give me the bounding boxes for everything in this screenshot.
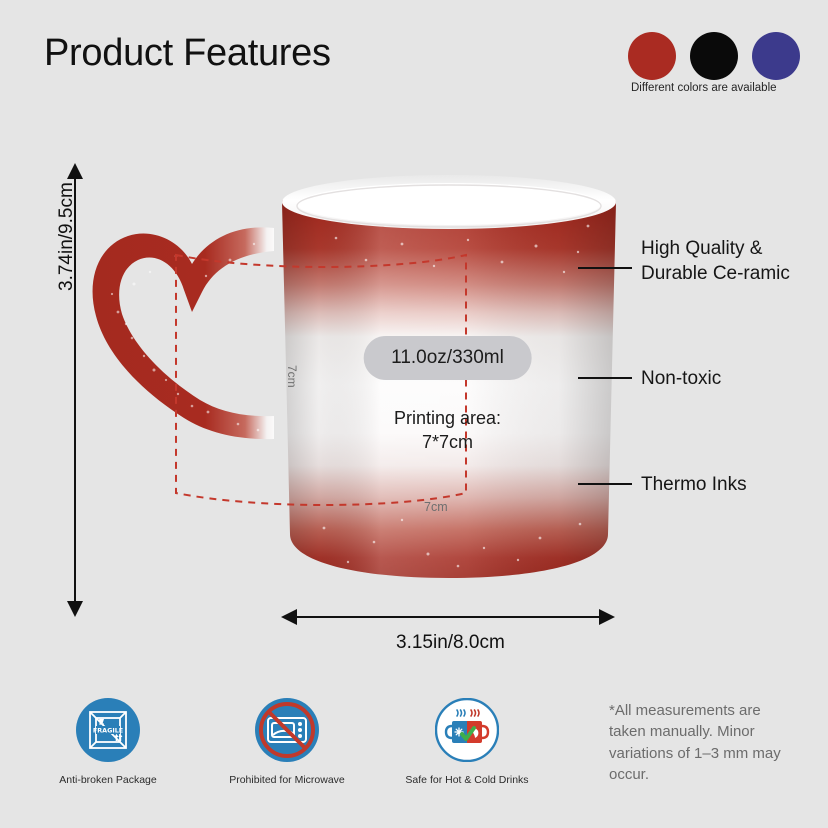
badge-label-hot-cold: Safe for Hot & Cold Drinks: [377, 774, 557, 786]
color-swatch-red[interactable]: [628, 32, 676, 80]
print-area-height-label: 7cm: [285, 365, 299, 388]
hot-cold-mug-icon: [435, 698, 499, 762]
printing-area-heading: Printing area:: [394, 406, 501, 430]
badge-row: FRAGILE Anti-broken Package: [0, 698, 560, 798]
printing-area-text: Printing area: 7*7cm: [394, 406, 501, 455]
svg-text:FRAGILE: FRAGILE: [93, 726, 123, 734]
fragile-crate-icon: FRAGILE: [76, 698, 140, 762]
swatch-caption: Different colors are available: [631, 82, 777, 94]
measurement-disclaimer: *All measurements are taken manually. Mi…: [609, 700, 794, 785]
badge-hot-cold: Safe for Hot & Cold Drinks: [377, 698, 557, 786]
printing-area-size: 7*7cm: [394, 430, 501, 454]
badge-label-no-microwave: Prohibited for Microwave: [197, 774, 377, 786]
width-arrow-left-icon: [281, 609, 297, 625]
height-arrow-up-icon: [67, 163, 83, 179]
callout-label-quality: High Quality & Durable Ce-ramic: [641, 236, 801, 287]
capacity-badge: 11.0oz/330ml: [363, 336, 532, 380]
callout-leader-line-quality: [578, 267, 632, 269]
width-dimension-label: 3.15in/8.0cm: [396, 632, 505, 654]
print-area-width-label: 7cm: [424, 500, 448, 514]
height-dimension-label: 3.74in/9.5cm: [56, 182, 78, 291]
print-area-content: 11.0oz/330ml Printing area: 7*7cm: [300, 258, 595, 518]
callout-leader-line-non-toxic: [578, 377, 632, 379]
color-swatch-black[interactable]: [690, 32, 738, 80]
badge-no-microwave: Prohibited for Microwave: [197, 698, 377, 786]
callout-label-non-toxic: Non-toxic: [641, 366, 721, 391]
infographic-canvas: Product Features Different colors are av…: [0, 0, 828, 828]
callout-label-thermo-ink: Thermo Inks: [641, 472, 747, 497]
microwave-banned-icon: [255, 698, 319, 762]
badge-label-anti-broken: Anti-broken Package: [18, 774, 198, 786]
width-arrow-right-icon: [599, 609, 615, 625]
badge-anti-broken: FRAGILE Anti-broken Package: [18, 698, 198, 786]
callout-leader-line-thermo-ink: [578, 483, 632, 485]
height-arrow-down-icon: [67, 601, 83, 617]
width-dimension-line: [289, 616, 607, 618]
page-title: Product Features: [44, 32, 331, 75]
color-swatch-navy-blue[interactable]: [752, 32, 800, 80]
color-swatch-group: [628, 32, 800, 80]
